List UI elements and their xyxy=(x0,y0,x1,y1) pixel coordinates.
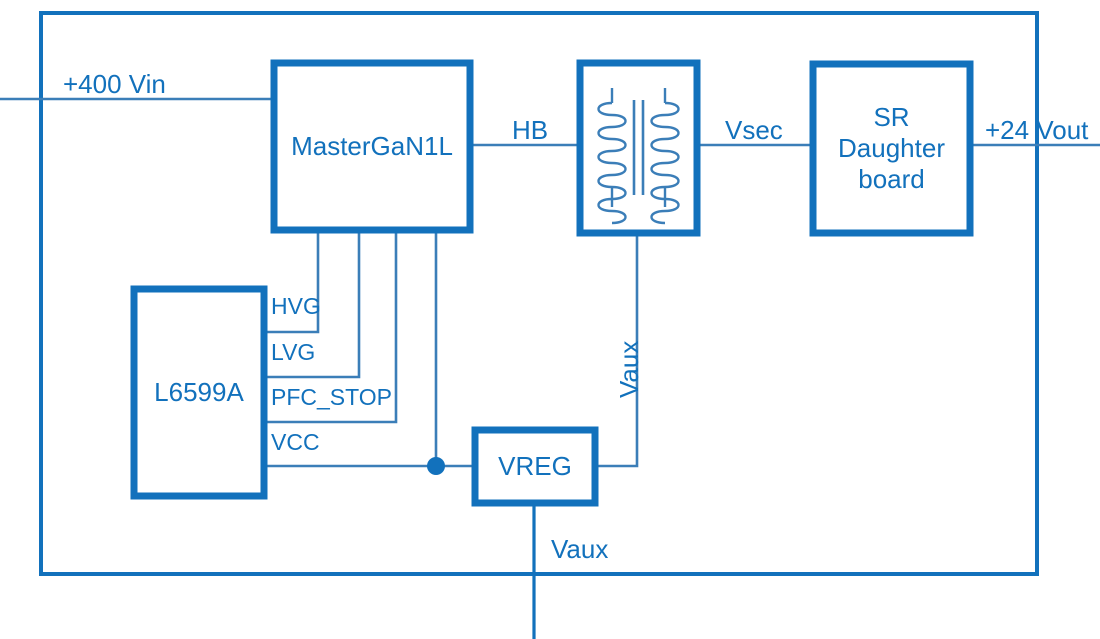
net-label-vin: +400 Vin xyxy=(63,70,166,99)
block-l6599a[interactable] xyxy=(134,289,264,496)
net-label-vaux-bottom: Vaux xyxy=(551,535,608,564)
block-diagram: MasterGaN1L SR Daughter board L6599A VRE… xyxy=(0,0,1100,639)
net-label-vaux-vertical: Vaux xyxy=(615,341,644,398)
junction-dot-icon xyxy=(427,457,445,475)
net-label-pfc-stop: PFC_STOP xyxy=(271,385,392,411)
net-label-hb: HB xyxy=(512,116,548,145)
net-label-vcc: VCC xyxy=(271,430,320,456)
net-label-hvg: HVG xyxy=(271,294,321,320)
block-mastergan1l[interactable] xyxy=(274,63,470,230)
block-transformer[interactable] xyxy=(580,63,697,233)
block-vreg[interactable] xyxy=(475,430,595,503)
net-label-lvg: LVG xyxy=(271,340,315,366)
net-label-vout: +24 Vout xyxy=(985,116,1088,145)
net-label-vsec: Vsec xyxy=(725,116,783,145)
block-sr-daughter-board[interactable] xyxy=(813,64,970,233)
